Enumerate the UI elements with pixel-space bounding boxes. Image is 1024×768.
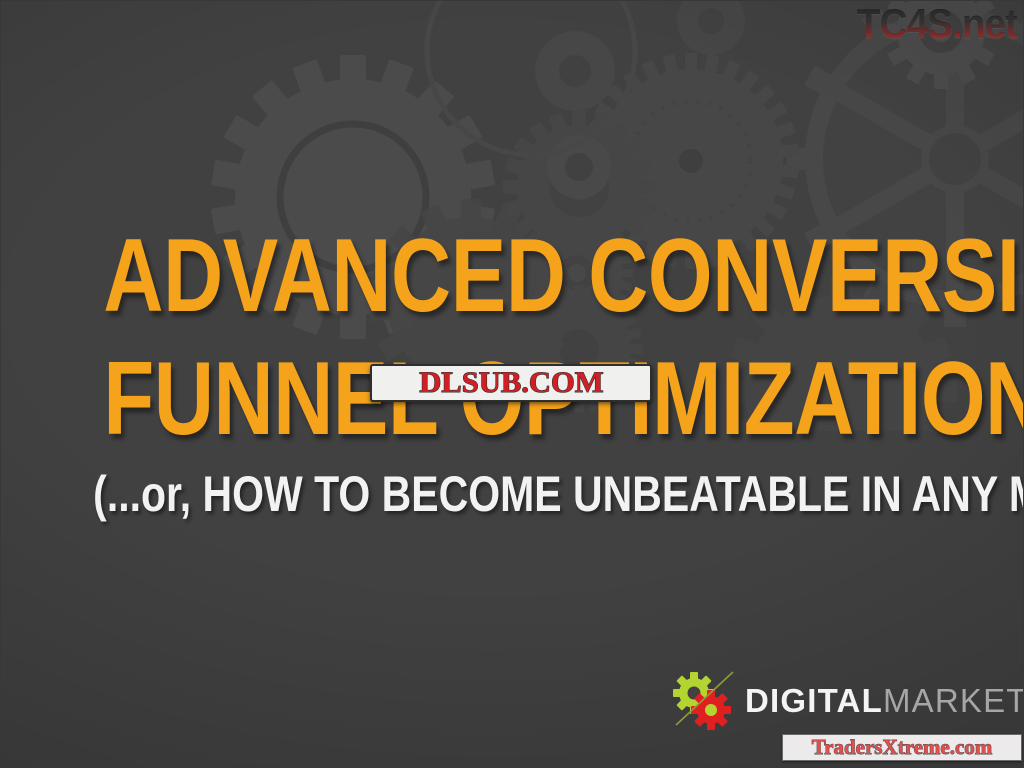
digitalmarketer-logo: DIGITALMARKETER bbox=[667, 669, 997, 731]
digitalmarketer-wordmark: DIGITALMARKETER bbox=[745, 684, 1024, 717]
dlsub-watermark-plate: DLSUB.COM bbox=[370, 364, 652, 402]
presentation-slide: ADVANCED CONVERSION FUNNEL OPTIMIZATION … bbox=[0, 0, 1024, 768]
subtitle-line: (...or, HOW TO BECOME UNBEATABLE IN ANY … bbox=[93, 468, 933, 521]
title-line-1: ADVANCED CONVERSION bbox=[103, 215, 922, 338]
tradersxtreme-watermark-plate: TradersXtreme.com bbox=[782, 734, 1022, 761]
dlsub-watermark-text: DLSUB.COM bbox=[419, 368, 603, 398]
wordmark-digital: DIGITAL bbox=[745, 682, 883, 719]
tradersxtreme-watermark-text: TradersXtreme.com bbox=[812, 737, 993, 758]
tc4s-watermark: TC4S.net bbox=[857, 3, 1017, 45]
wordmark-marketer: MARKETER bbox=[883, 682, 1024, 719]
interlocking-gears-icon bbox=[667, 669, 743, 731]
